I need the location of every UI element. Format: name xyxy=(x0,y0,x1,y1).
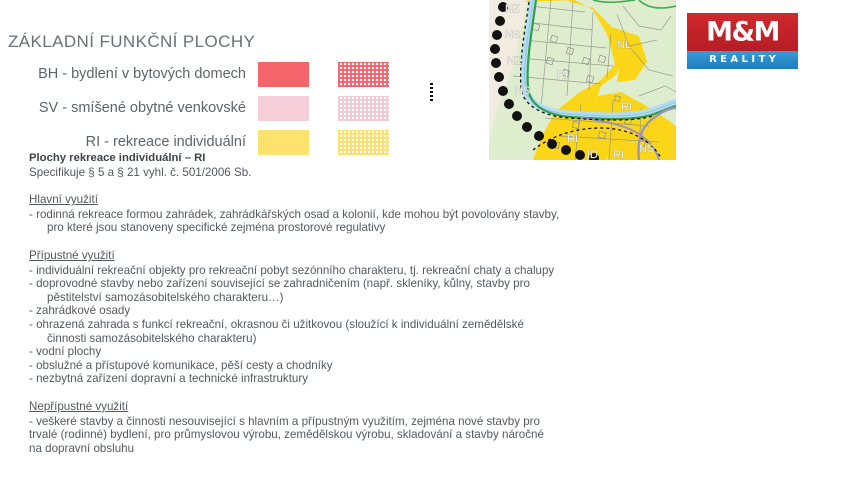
list-item-text: - obslužné a přístupové komunikace, pěší… xyxy=(29,359,333,372)
legend-label-sv: SV - smíšené obytné venkovské xyxy=(0,100,258,116)
legend-title: ZÁKLADNÍ FUNKČNÍ PLOCHY xyxy=(8,32,255,52)
list-item: - ohrazená zahrada s funkcí rekreační, o… xyxy=(29,318,629,345)
list-item: - nezbytná zařízení dopravní a technické… xyxy=(29,372,629,386)
logo-red-block: M&M xyxy=(687,13,798,51)
list-item: - zahrádkové osady xyxy=(29,304,629,318)
list-item: - individuální rekreační objekty pro rek… xyxy=(29,264,629,278)
list-item-cont: činnosti samozásobitelského charakteru) xyxy=(38,332,629,346)
legend-swatch-solid-bh xyxy=(258,62,309,87)
list-item: - vodní plochy xyxy=(29,345,629,359)
legend-swatch-solid-ri xyxy=(258,130,309,155)
list-item: - rodinná rekreace formou zahrádek, zahr… xyxy=(29,208,629,235)
legend-swatch-hatch-ri xyxy=(338,130,389,155)
legend-row-sv: SV - smíšené obytné venkovské xyxy=(0,92,420,124)
list-item-cont: trvalé (rodinné) bydlení, pro průmyslovo… xyxy=(29,428,629,442)
legend-rows: BH - bydlení v bytových domech SV - smíš… xyxy=(0,58,420,160)
map-label-nz-2: NZ xyxy=(507,55,522,67)
map-label-ns: NS xyxy=(505,29,520,41)
map-label-ri-2: RI xyxy=(621,101,632,113)
list-item-cont: pro které jsou stanoveny specifické zejm… xyxy=(38,221,629,235)
list-item-text: - zahrádkové osady xyxy=(29,304,130,317)
list-item-text: - vodní plochy xyxy=(29,345,101,358)
logo-blue-block: REALITY xyxy=(687,51,798,69)
map-label-ri: RI xyxy=(557,69,568,81)
map-label-nl: NL xyxy=(617,39,631,51)
map-label-ns-3: NS xyxy=(639,143,654,155)
list-item-text: - doprovodné stavby nebo zařízení souvis… xyxy=(29,277,530,290)
legend-label-bh: BH - bydlení v bytových domech xyxy=(0,66,258,82)
list-item-text: - individuální rekreační objekty pro rek… xyxy=(29,264,554,277)
section-title-nepripustne-vyuziti: Nepřípustné využití xyxy=(29,400,629,414)
list-item: - obslužné a přístupové komunikace, pěší… xyxy=(29,359,629,373)
text-cursor-icon xyxy=(430,83,433,102)
list-item-text: - nezbytná zařízení dopravní a technické… xyxy=(29,372,308,385)
section-title-pripustne-vyuziti: Přípustné využití xyxy=(29,249,629,263)
zoning-description-document: Plochy rekreace individuální – RI Specif… xyxy=(29,152,629,455)
list-item-cont: pěstitelství samozásobitelského charakte… xyxy=(38,291,629,305)
legend-swatch-solid-sv xyxy=(258,96,309,121)
section-title-hlavni-vyuziti: Hlavní využití xyxy=(29,193,629,207)
zoning-map-thumbnail[interactable]: NZ NS NZ NS NL RI RI RI ID RI NS xyxy=(489,0,676,160)
legend-swatch-hatch-sv xyxy=(338,96,389,121)
map-label-nz: NZ xyxy=(505,3,520,15)
list-item-cont-2: na dopravní obsluhu xyxy=(29,442,629,456)
list-item-text: - ohrazená zahrada s funkcí rekreační, o… xyxy=(29,318,524,331)
list-item-text: - veškeré stavby a činnosti nesouvisejíc… xyxy=(29,415,540,428)
list-item-text: - rodinná rekreace formou zahrádek, zahr… xyxy=(29,208,559,221)
doc-spec: Specifikuje § 5 a § 21 vyhl. č. 501/2006… xyxy=(29,166,629,180)
legend-swatch-hatch-bh xyxy=(338,62,389,87)
map-label-ri-3: RI xyxy=(567,133,578,145)
doc-heading: Plochy rekreace individuální – RI xyxy=(29,152,629,166)
logo-subtitle-text: REALITY xyxy=(687,55,798,65)
logo-brand-text: M&M xyxy=(687,19,798,46)
list-item: - veškeré stavby a činnosti nesouvisejíc… xyxy=(29,415,629,456)
legend-label-ri: RI - rekreace individuální xyxy=(0,134,258,150)
mm-reality-logo: M&M REALITY xyxy=(687,13,798,69)
legend-row-bh: BH - bydlení v bytových domech xyxy=(0,58,420,90)
map-label-ns-2: NS xyxy=(515,85,530,97)
list-item: - doprovodné stavby nebo zařízení souvis… xyxy=(29,277,629,304)
